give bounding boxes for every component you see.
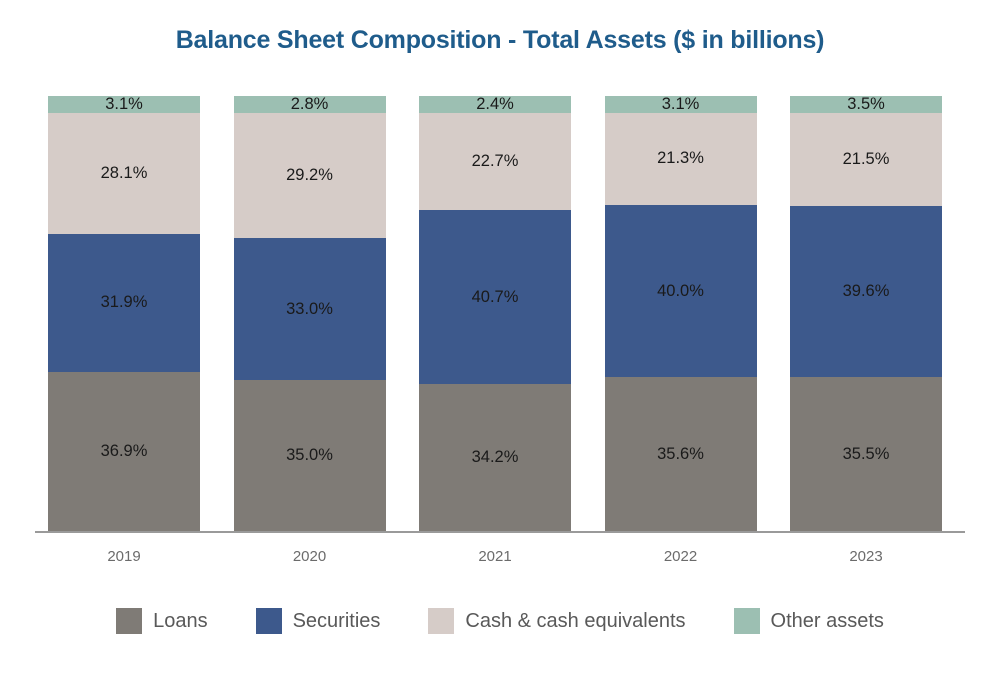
x-tick-label-2023: 2023 [790,548,942,565]
bar-segment-securities[interactable]: 31.9% [48,234,200,372]
segment-value-label: 3.1% [105,96,143,113]
bar-group-2023[interactable]: 3.5%21.5%39.6%35.5% [790,0,942,531]
bar-segment-loans[interactable]: 36.9% [48,372,200,531]
segment-value-label: 34.2% [472,449,519,466]
segment-value-label: 40.0% [657,283,704,300]
segment-value-label: 2.4% [476,96,514,113]
bar-group-2021[interactable]: 2.4%22.7%40.7%34.2% [419,0,571,531]
legend-item-loans[interactable]: Loans [116,608,208,634]
segment-value-label: 36.9% [101,443,148,460]
legend-item-other-assets[interactable]: Other assets [734,608,884,634]
legend-label: Loans [153,610,208,633]
legend-label: Securities [293,610,381,633]
bar-group-2020[interactable]: 2.8%29.2%33.0%35.0% [234,0,386,531]
bar-group-2019[interactable]: 3.1%28.1%31.9%36.9% [48,0,200,531]
bar-segment-loans[interactable]: 34.2% [419,384,571,531]
bar-segment-loans[interactable]: 35.6% [605,377,757,531]
legend-label: Other assets [771,610,884,633]
legend-item-cash-cash-equivalents[interactable]: Cash & cash equivalents [428,608,685,634]
bar-segment-securities[interactable]: 39.6% [790,206,942,378]
bar-segment-cash-cash-equivalents[interactable]: 28.1% [48,113,200,234]
bar-segment-other-assets[interactable]: 2.8% [234,96,386,113]
segment-value-label: 3.5% [847,96,885,113]
x-tick-label-2022: 2022 [605,548,757,565]
legend-label: Cash & cash equivalents [465,610,685,633]
segment-value-label: 35.5% [843,446,890,463]
segment-value-label: 22.7% [472,153,519,170]
bar-segment-securities[interactable]: 40.7% [419,210,571,385]
legend-swatch-icon [116,608,142,634]
bar-segment-loans[interactable]: 35.0% [234,380,386,531]
segment-value-label: 28.1% [101,165,148,182]
x-tick-label-2020: 2020 [234,548,386,565]
legend-swatch-icon [734,608,760,634]
segment-value-label: 3.1% [662,96,700,113]
bar-segment-cash-cash-equivalents[interactable]: 29.2% [234,113,386,239]
bar-segment-other-assets[interactable]: 3.5% [790,96,942,113]
chart-container: Balance Sheet Composition - Total Assets… [0,0,1000,680]
bar-segment-cash-cash-equivalents[interactable]: 21.5% [790,113,942,206]
bar-segment-other-assets[interactable]: 3.1% [48,96,200,113]
segment-value-label: 21.5% [843,151,890,168]
bar-stack: 2.4%22.7%40.7%34.2% [419,96,571,531]
segment-value-label: 35.6% [657,446,704,463]
plot-area: 3.1%28.1%31.9%36.9%2.8%29.2%33.0%35.0%2.… [0,0,1000,531]
segment-value-label: 33.0% [286,301,333,318]
bar-segment-other-assets[interactable]: 3.1% [605,96,757,113]
bar-segment-loans[interactable]: 35.5% [790,377,942,531]
segment-value-label: 2.8% [291,96,329,113]
legend-swatch-icon [256,608,282,634]
bar-segment-cash-cash-equivalents[interactable]: 21.3% [605,113,757,205]
x-tick-label-2019: 2019 [48,548,200,565]
bar-segment-securities[interactable]: 40.0% [605,205,757,378]
bar-group-2022[interactable]: 3.1%21.3%40.0%35.6% [605,0,757,531]
bar-segment-cash-cash-equivalents[interactable]: 22.7% [419,113,571,210]
x-tick-label-2021: 2021 [419,548,571,565]
bar-segment-other-assets[interactable]: 2.4% [419,96,571,113]
bar-stack: 2.8%29.2%33.0%35.0% [234,96,386,531]
segment-value-label: 29.2% [286,167,333,184]
bar-stack: 3.1%28.1%31.9%36.9% [48,96,200,531]
legend-item-securities[interactable]: Securities [256,608,381,634]
segment-value-label: 35.0% [286,447,333,464]
chart-legend: LoansSecuritiesCash & cash equivalentsOt… [0,608,1000,634]
segment-value-label: 21.3% [657,150,704,167]
x-axis-tick-labels: 20192020202120222023 [0,548,1000,572]
x-axis-line [35,531,965,533]
bar-stack: 3.1%21.3%40.0%35.6% [605,96,757,531]
bar-segment-securities[interactable]: 33.0% [234,238,386,380]
segment-value-label: 39.6% [843,283,890,300]
bar-stack: 3.5%21.5%39.6%35.5% [790,96,942,531]
segment-value-label: 31.9% [101,294,148,311]
segment-value-label: 40.7% [472,289,519,306]
legend-swatch-icon [428,608,454,634]
